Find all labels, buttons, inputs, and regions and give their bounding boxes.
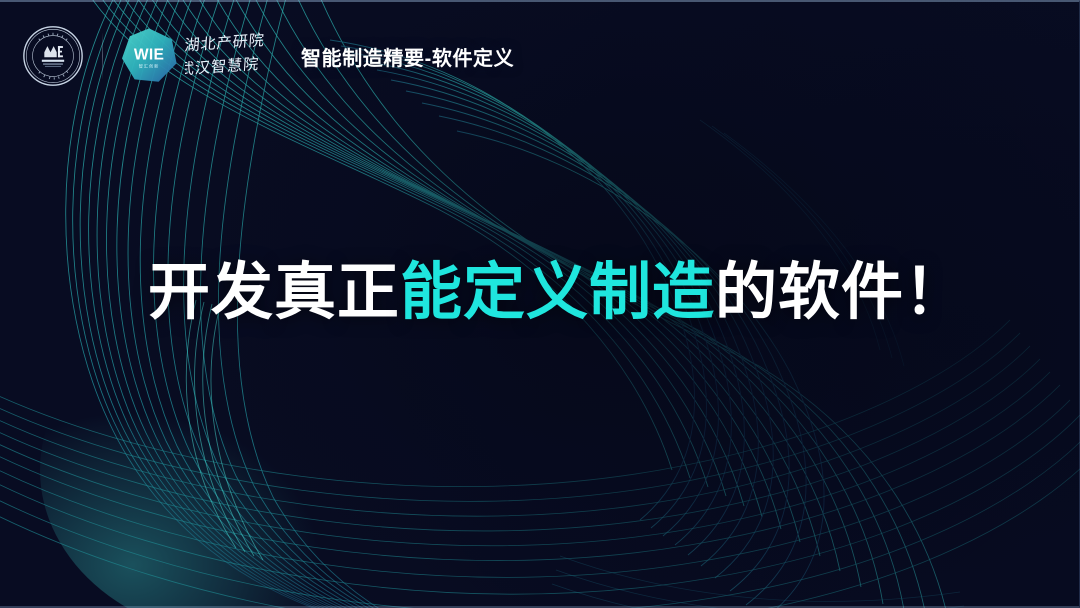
headline: 开发真正能定义制造的软件！ [148, 262, 967, 324]
headline-part-2-highlight: 能定义制造 [400, 258, 715, 327]
svg-text:智汇创新: 智汇创新 [139, 62, 160, 69]
headline-part-1: 开发真正 [148, 258, 400, 327]
svg-text:武汉智慧院: 武汉智慧院 [185, 55, 260, 79]
page-title: 智能制造精要-软件定义 [301, 42, 514, 71]
presentation-slide: WIE 智汇创新 湖北产研院 武汉智慧院 智能制造精要-软件定义 开发真正能定义… [0, 0, 1080, 608]
university-seal-icon [22, 25, 84, 87]
svg-text:湖北产研院: 湖北产研院 [185, 31, 265, 55]
slide-header: WIE 智汇创新 湖北产研院 武汉智慧院 智能制造精要-软件定义 [22, 24, 514, 88]
headline-part-3: 的软件！ [715, 258, 967, 327]
svg-text:WIE: WIE [134, 47, 164, 64]
wie-hexagon-logo-icon: WIE 智汇创新 [119, 26, 179, 86]
calligraphy-logotype-icon: 湖北产研院 武汉智慧院 [185, 27, 281, 85]
header-divider [102, 33, 103, 79]
